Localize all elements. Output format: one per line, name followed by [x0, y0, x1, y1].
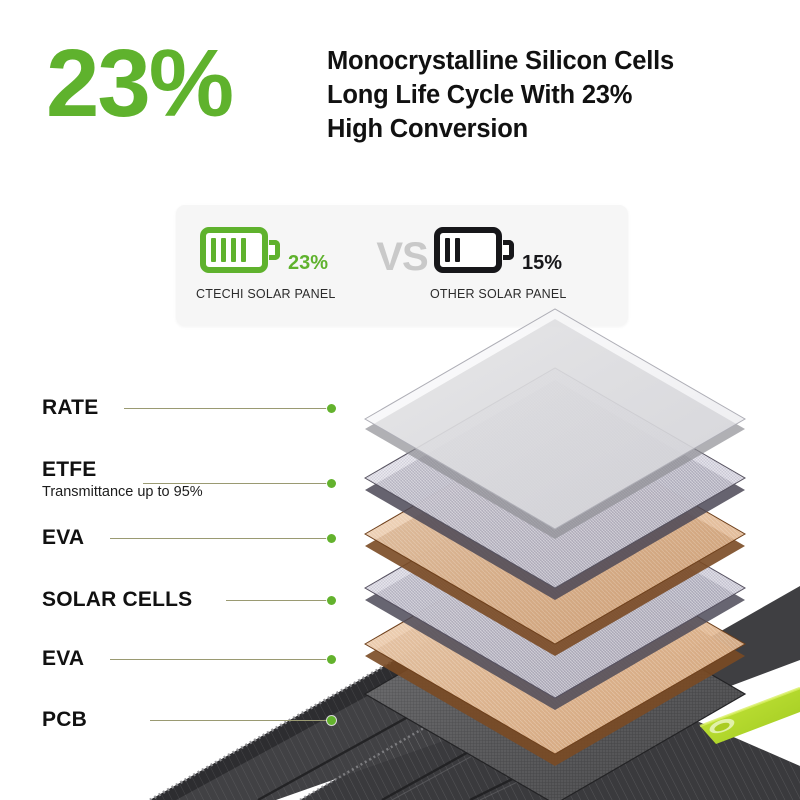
comparison-card: 23% CTECHI SOLAR PANEL VS 15% OTHER SOLA… [176, 205, 628, 326]
leader-line-solar-cells [226, 600, 331, 601]
other-battery-row: 15% [434, 221, 562, 277]
layer-plate-solar-cells [365, 478, 745, 710]
hero-percentage: 23% [46, 36, 232, 132]
layer-plate-eva-upper [365, 424, 745, 656]
leader-dot-pcb [327, 716, 336, 725]
panel-handle [700, 688, 800, 744]
hero-headline-line-1: Monocrystalline Silicon Cells [327, 44, 787, 78]
hero-headline-line-2: Long Life Cycle With 23% [327, 78, 787, 112]
battery-bars [211, 238, 246, 262]
ctechi-battery-row: 23% [200, 221, 328, 277]
leader-line-pcb [150, 720, 331, 721]
leader-dot-eva-lower [327, 655, 336, 664]
callout-etfe-title: ETFE [42, 458, 96, 482]
battery-low-icon [434, 227, 518, 277]
layer-plate-pcb [365, 584, 745, 800]
callout-pcb-title: PCB [42, 708, 87, 732]
ctechi-percent: 23% [288, 252, 328, 275]
hero-headline-line-3: High Conversion [327, 112, 787, 146]
callout-etfe-subtitle: Transmittance up to 95% [42, 484, 203, 500]
leader-dot-eva-upper [327, 534, 336, 543]
battery-terminal [503, 240, 514, 260]
leader-line-eva-upper [110, 538, 331, 539]
other-percent: 15% [522, 252, 562, 275]
callout-eva-lower-title: EVA [42, 647, 84, 671]
comparison-right: 15% OTHER SOLAR PANEL [422, 221, 612, 313]
infographic-canvas: 23% Monocrystalline Silicon Cells Long L… [0, 0, 800, 800]
battery-terminal [269, 240, 280, 260]
battery-full-icon [200, 227, 284, 277]
leader-line-etfe [143, 483, 331, 484]
ctechi-caption: CTECHI SOLAR PANEL [196, 287, 336, 301]
leader-line-eva-lower [110, 659, 331, 660]
battery-bars [445, 238, 460, 262]
hero-headline: Monocrystalline Silicon Cells Long Life … [327, 44, 787, 146]
leader-line-rate [124, 408, 331, 409]
leader-dot-etfe [327, 479, 336, 488]
leader-dot-solar-cells [327, 596, 336, 605]
solar-panel-base [150, 586, 800, 800]
other-caption: OTHER SOLAR PANEL [430, 287, 567, 301]
comparison-left: 23% CTECHI SOLAR PANEL [192, 221, 382, 313]
callout-rate-title: RATE [42, 396, 98, 420]
leader-dot-rate [327, 404, 336, 413]
callout-solar-cells-title: SOLAR CELLS [42, 588, 192, 612]
layer-plate-eva-lower [365, 534, 745, 766]
callout-eva-upper-title: EVA [42, 526, 84, 550]
layer-plate-etfe [365, 368, 745, 600]
layer-plate-rate [365, 309, 745, 539]
